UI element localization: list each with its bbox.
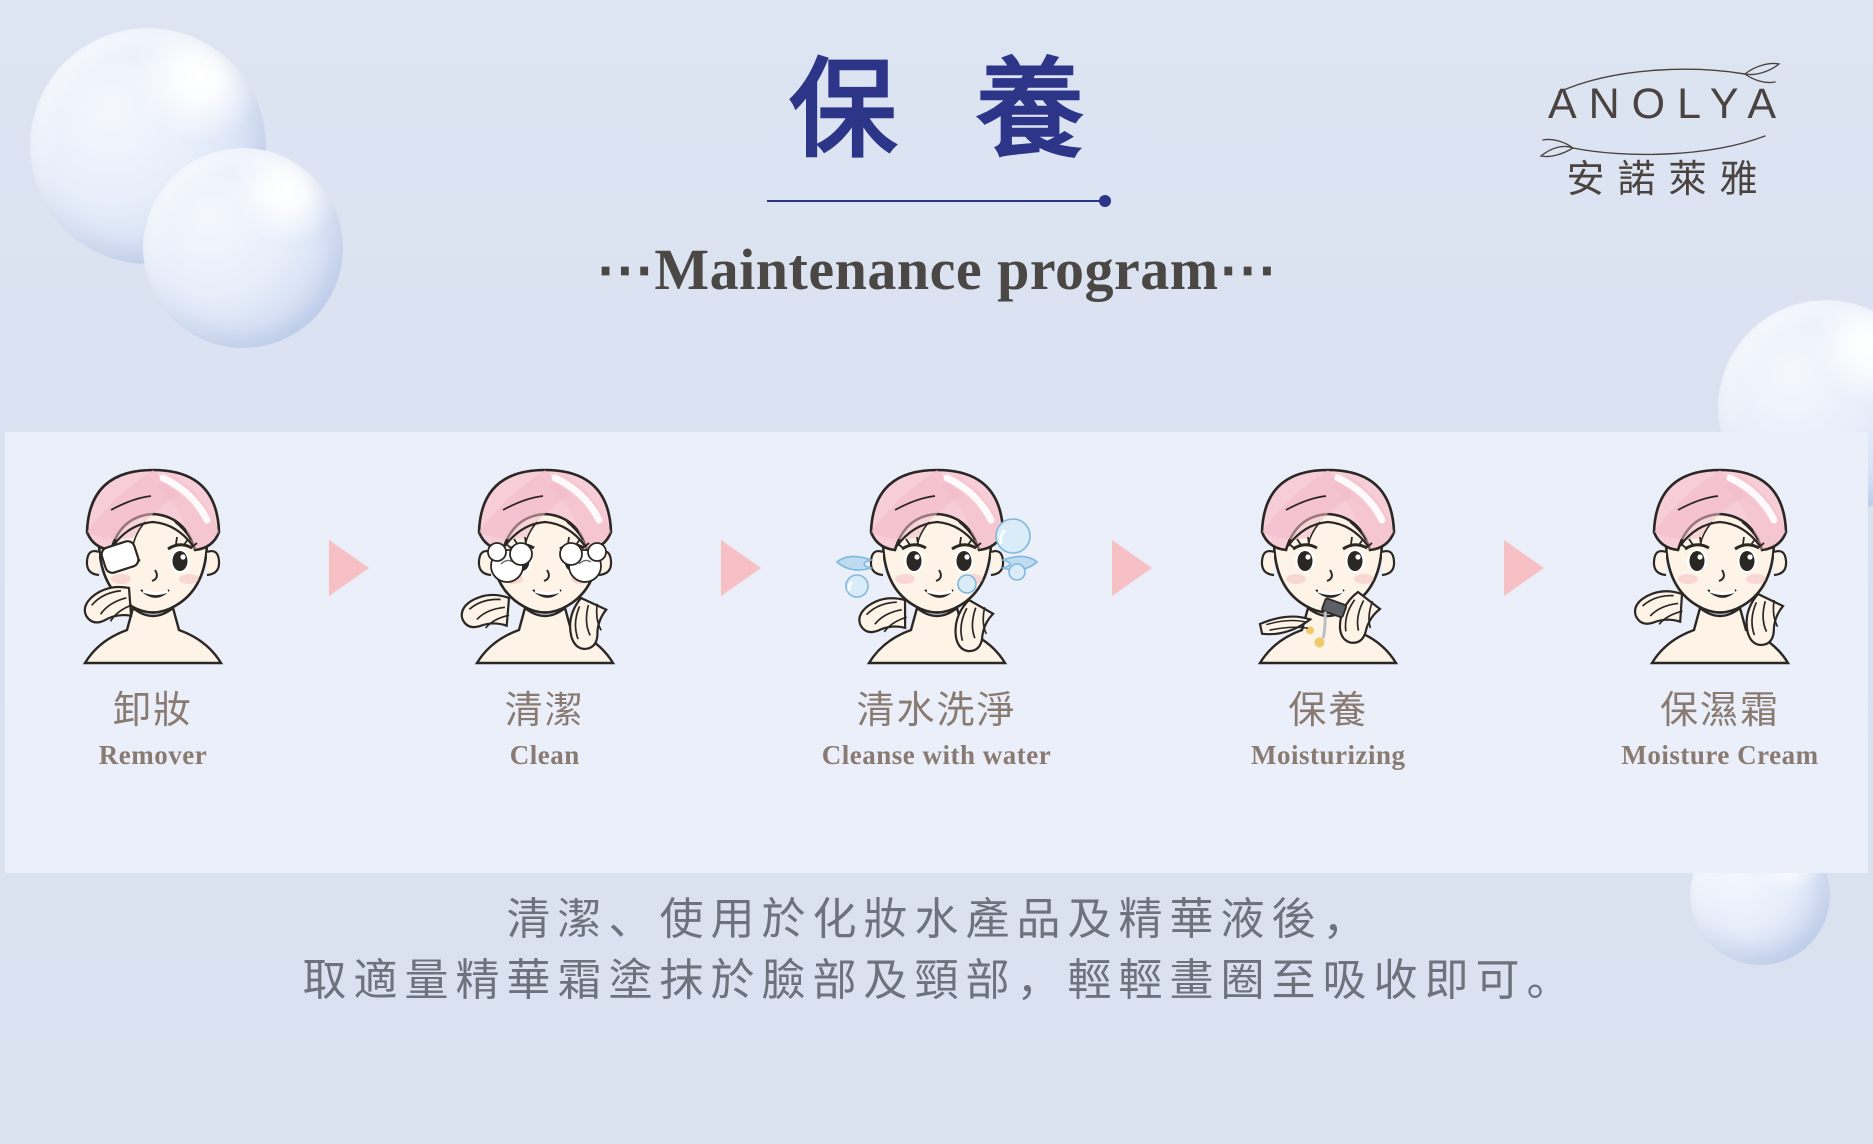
logo-wordmark-zh: 安諾萊雅 [1497,148,1827,203]
brand-logo: ANOLYA 安諾萊雅 [1497,58,1827,208]
logo-wordmark: ANOLYA [1497,80,1827,129]
step-label-zh: 清潔 [505,679,585,734]
step-label-en: Moisture Cream [1621,740,1818,771]
step-remover[interactable]: 卸妝Remover [23,432,283,771]
title-underline-rule [767,200,1107,202]
banner-header: 保 養 ⋯Maintenance program⋯ ANOLYA 安諾萊雅 [0,0,1873,432]
page-subtitle-en: ⋯Maintenance program⋯ [0,235,1873,303]
step-label-en: Moisturizing [1251,740,1406,771]
usage-instructions: 清潔、使用於化妝水產品及精華液後， 取適量精華霜塗抹於臉部及頸部，輕輕畫圈至吸收… [0,890,1873,1011]
step-clean[interactable]: 清潔Clean [415,432,675,771]
step-moisturizing[interactable]: 保養Moisturizing [1198,432,1458,771]
step-label-zh: 卸妝 [113,679,193,734]
step-label-zh: 清水洗淨 [856,679,1016,734]
step-moisture-cream[interactable]: 保濕霜Moisture Cream [1590,432,1850,771]
woman-applying-cream-to-cheeks [1600,448,1840,663]
triangle-right-icon [1112,540,1152,596]
usage-instructions-line-1: 清潔、使用於化妝水產品及精華液後， [0,890,1873,951]
maintenance-program-banner: 保 養 ⋯Maintenance program⋯ ANOLYA 安諾萊雅 [0,0,1873,1144]
steps-row: 卸妝Remover [5,432,1868,873]
step-label-zh: 保養 [1288,679,1368,734]
woman-washing-face-with-foam [425,448,665,663]
woman-removing-makeup-with-cotton-pad [33,448,273,663]
step-cleanse-water[interactable]: 清水洗淨Cleanse with water [807,432,1067,771]
step-label-zh: 保濕霜 [1660,679,1780,734]
triangle-right-icon [721,540,761,596]
woman-applying-serum-dropper [1208,448,1448,663]
step-label-en: Clean [510,740,580,771]
triangle-right-icon [1504,540,1544,596]
steps-band: 卸妝Remover [5,432,1868,873]
step-label-en: Remover [99,740,207,771]
triangle-right-icon [329,540,369,596]
usage-instructions-line-2: 取適量精華霜塗抹於臉部及頸部，輕輕畫圈至吸收即可。 [0,951,1873,1012]
step-label-en: Cleanse with water [822,740,1051,771]
woman-rinsing-face-with-water [817,448,1057,663]
